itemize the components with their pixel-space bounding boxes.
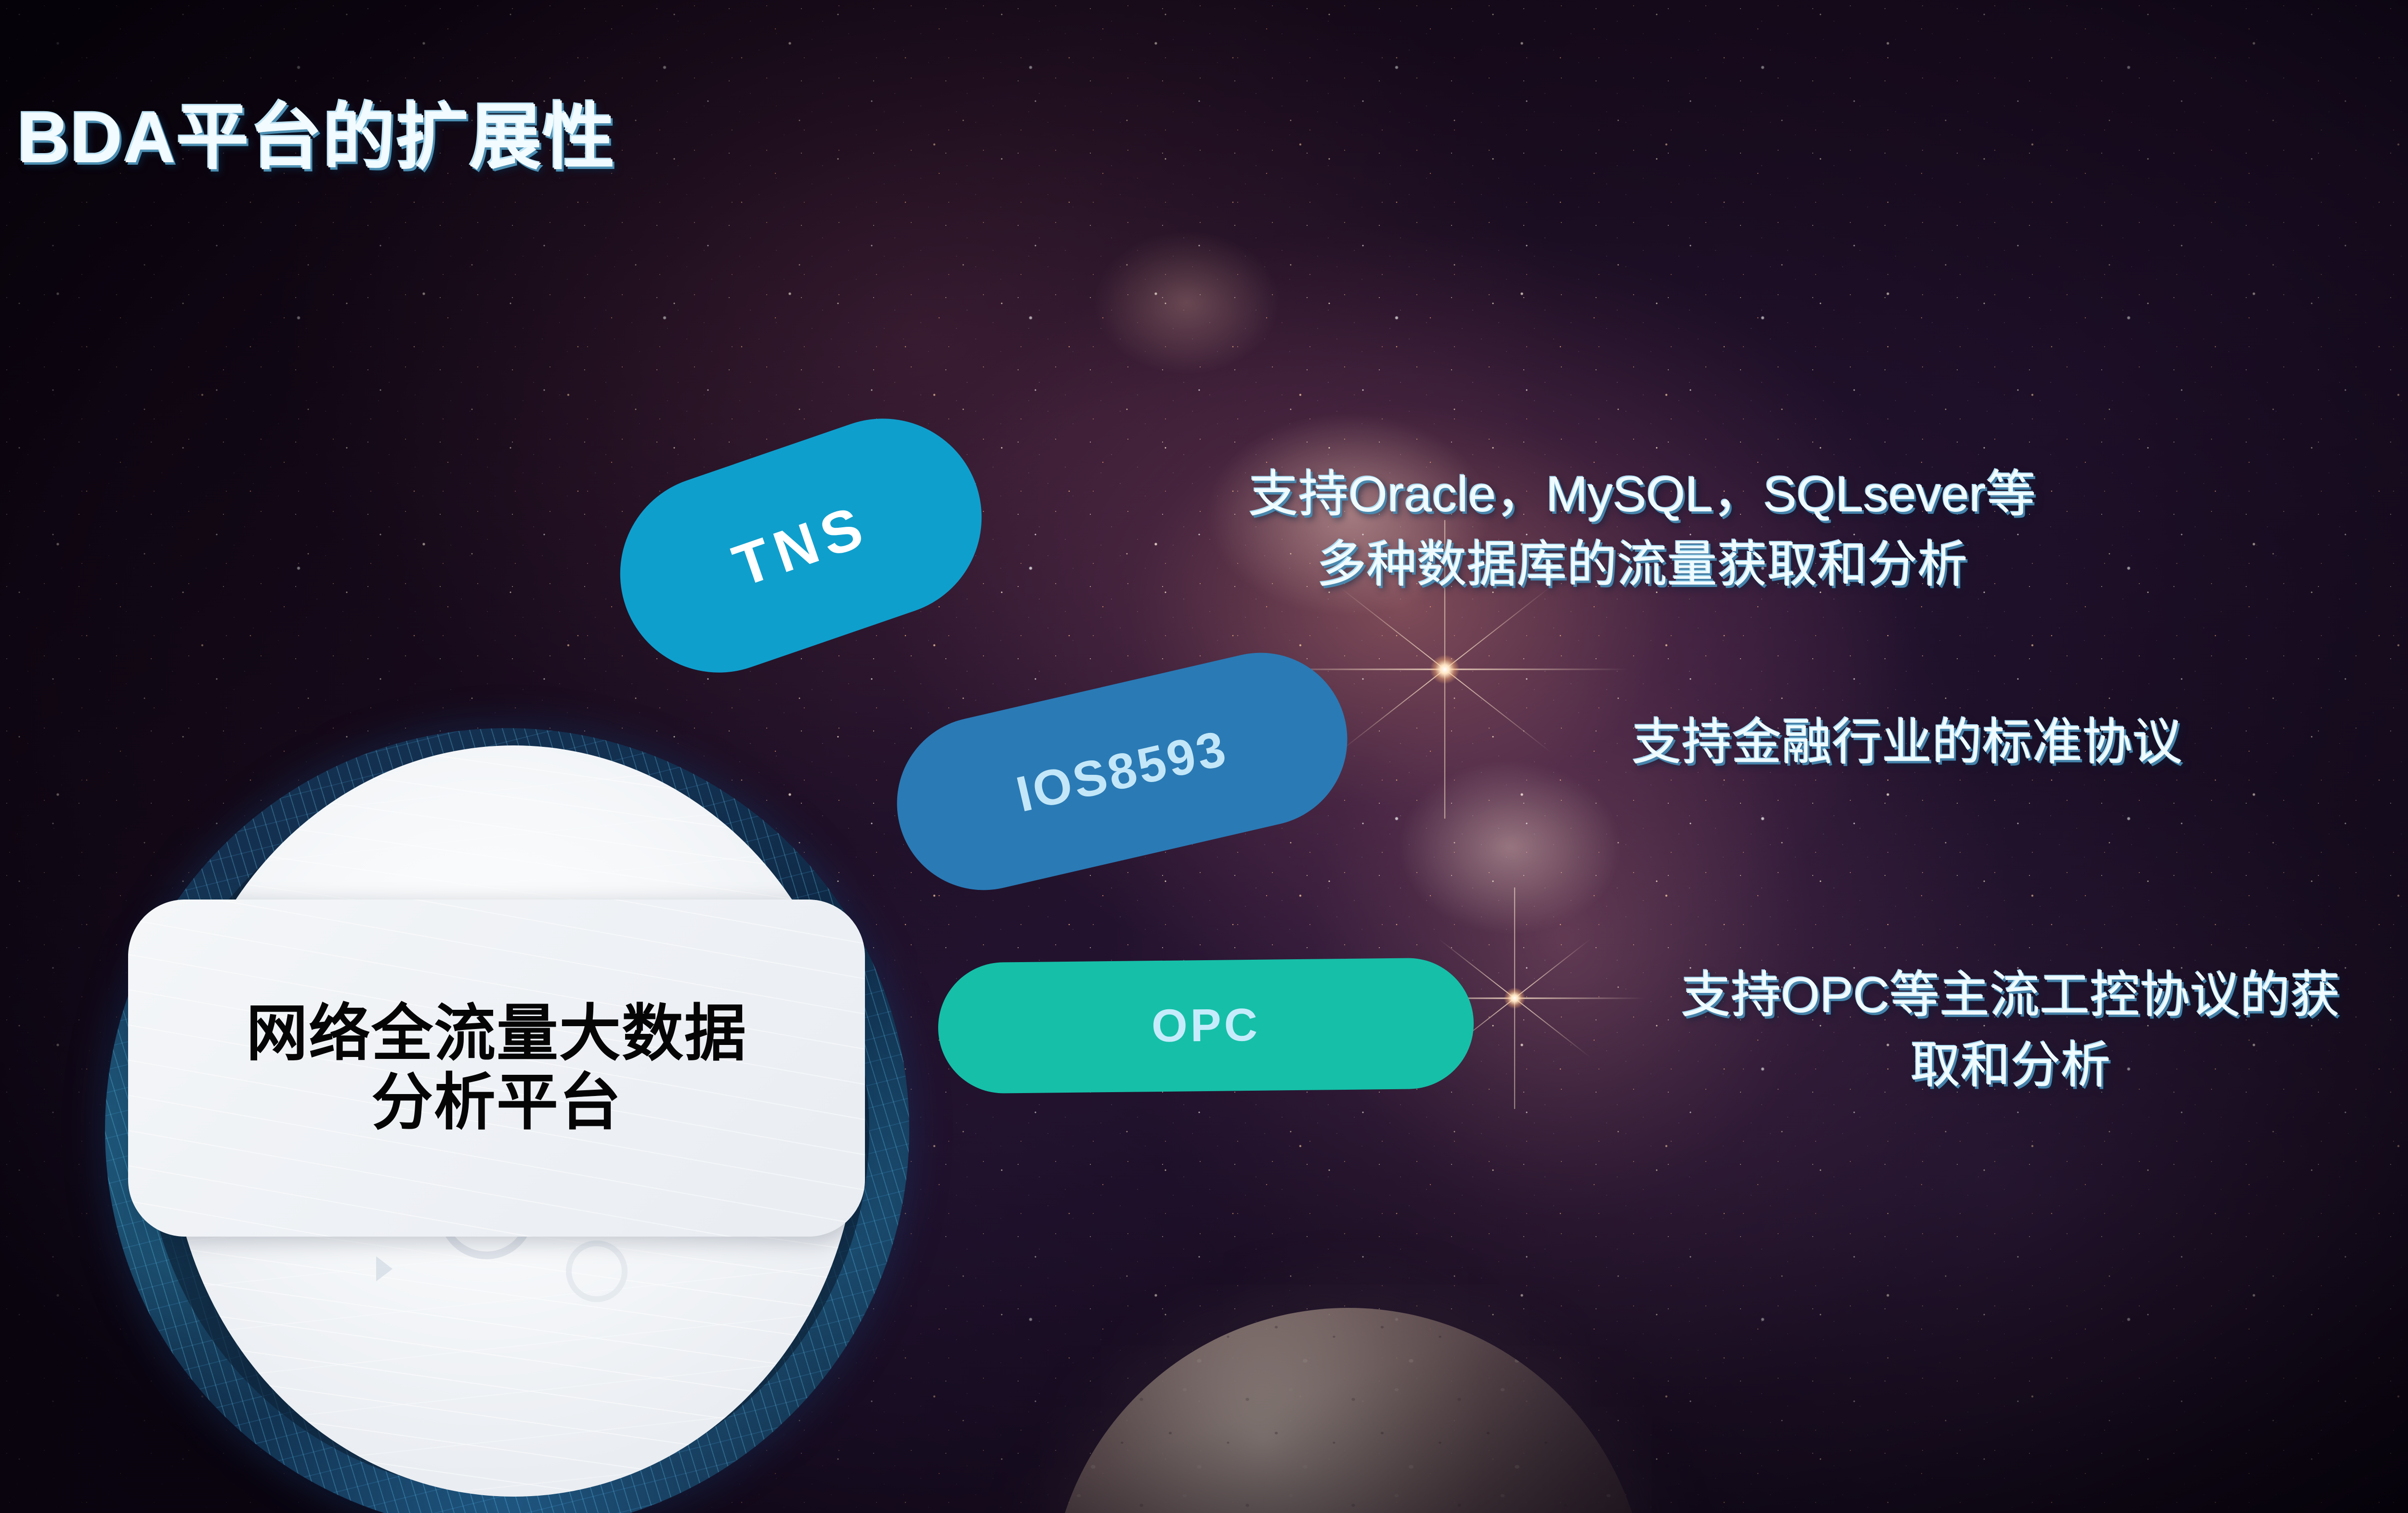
protocol-pill-label: IOS8593 xyxy=(1011,719,1233,823)
protocol-pill-label: TNS xyxy=(725,491,877,600)
page-title: BDA平台的扩展性 xyxy=(17,79,616,183)
presentation-slide: 网络全流量大数据 分析平台 TNS IOS8593 OPC BDA平台的扩展性 … xyxy=(0,0,2408,1513)
chevron-right-icon xyxy=(376,1256,393,1281)
platform-title: 网络全流量大数据 分析平台 xyxy=(246,999,747,1137)
protocol-description-tns: 支持Oracle，MySQL，SQLsever等 多种数据库的流量获取和分析 xyxy=(1084,460,2201,600)
gear-secondary-icon xyxy=(566,1240,628,1302)
protocol-description-ios8593: 支持金融行业的标准协议 xyxy=(1421,708,2394,778)
protocol-pill-label: OPC xyxy=(1151,999,1260,1053)
platform-name-card[interactable]: 网络全流量大数据 分析平台 xyxy=(128,900,865,1237)
protocol-description-opc: 支持OPC等主流工控协议的获 取和分析 xyxy=(1522,961,2408,1101)
protocol-pill-opc[interactable]: OPC xyxy=(938,957,1475,1094)
